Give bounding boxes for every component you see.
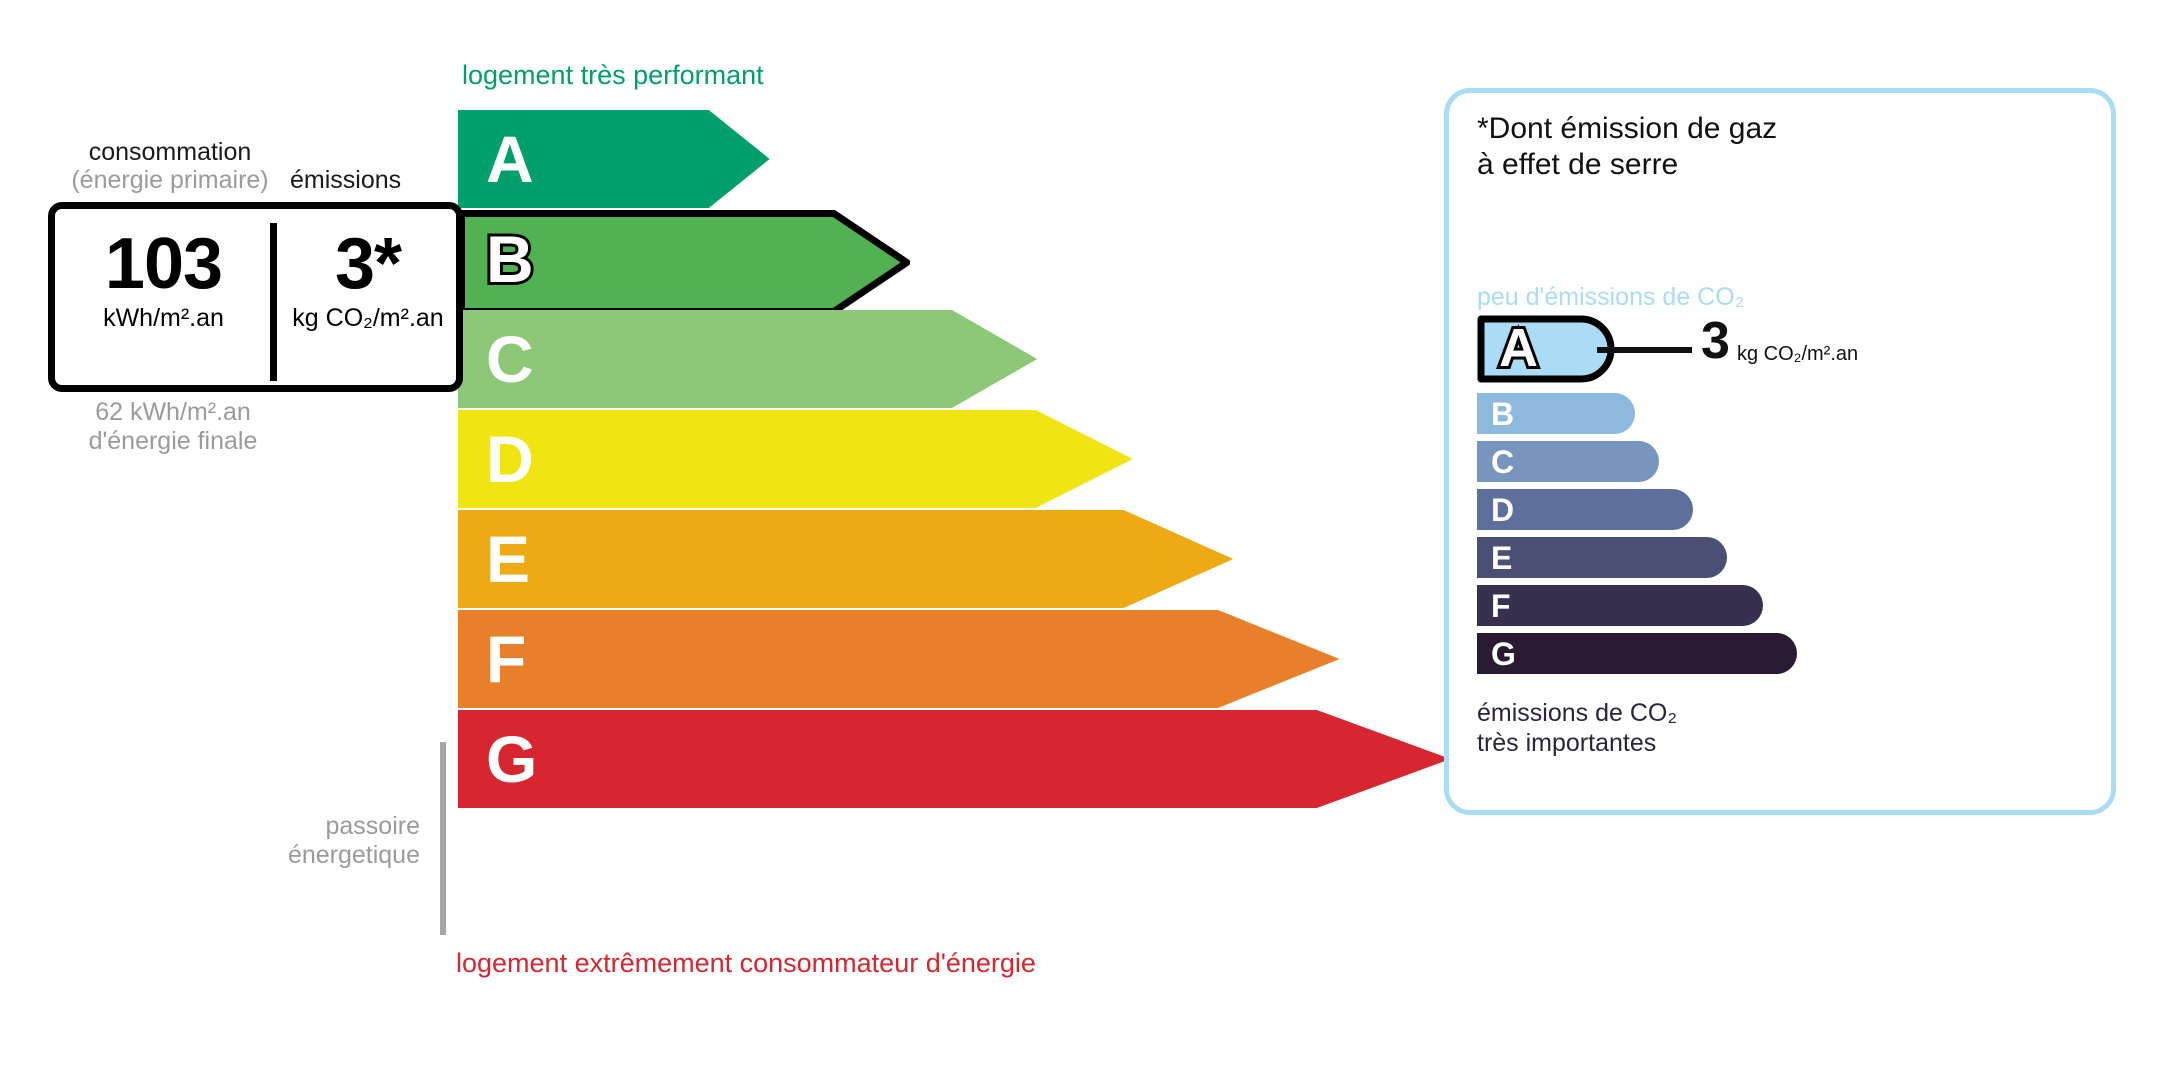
consumption-header-sub: (énergie primaire) — [55, 166, 285, 194]
grade-arrow-f: F — [458, 610, 1340, 708]
passoire-label-line2: énergetique — [250, 841, 420, 870]
co2-bar-letter-g: G — [1491, 638, 1516, 670]
grade-arrow-g: G — [458, 710, 1451, 808]
consumption-unit: kWh/m².an — [61, 304, 266, 333]
grade-arrow-d: D — [458, 410, 1133, 508]
co2-connector-line — [1597, 347, 1692, 353]
co2-selected-badge: A — [1477, 315, 1617, 388]
grade-arrow-shape-b — [458, 210, 910, 315]
co2-bar-letter-d: D — [1491, 494, 1514, 526]
grade-arrow-shape-d — [458, 410, 1133, 508]
co2-bar-letter-e: E — [1491, 542, 1512, 574]
grade-arrow-shape-c — [458, 310, 1037, 408]
caption-top: logement très performant — [462, 60, 764, 91]
grade-arrow-e: E — [458, 510, 1233, 608]
grade-arrow-a: A — [458, 110, 770, 208]
co2-bar-g: G — [1477, 633, 1797, 674]
value-box: 103 kWh/m².an 3* kg CO₂/m².an — [48, 202, 463, 392]
co2-panel-title: *Dont émission de gaz à effet de serre — [1477, 111, 1777, 183]
caption-bottom: logement extrêmement consommateur d'éner… — [456, 948, 1036, 979]
final-energy-note: 62 kWh/m².an d'énergie finale — [48, 398, 298, 456]
passoire-bracket — [440, 742, 446, 935]
emissions-unit: kg CO₂/m².an — [279, 304, 457, 333]
passoire-label: passoire énergetique — [250, 812, 420, 870]
emissions-value-cell: 3* kg CO₂/m².an — [279, 227, 457, 333]
value-box-divider — [270, 223, 277, 381]
co2-bar-e: E — [1477, 537, 1727, 578]
grade-arrow-shape-g — [458, 710, 1451, 808]
grade-arrow-shape-f — [458, 610, 1340, 708]
co2-bar-letter-b: B — [1491, 398, 1514, 430]
co2-scale-top-label: peu d'émissions de CO₂ — [1477, 283, 1744, 312]
co2-title-line1: *Dont émission de gaz — [1477, 111, 1777, 147]
grade-arrow-b: B — [458, 210, 903, 308]
grade-arrow-shape-a — [458, 110, 770, 208]
co2-bar-c: C — [1477, 441, 1659, 482]
consumption-header-main: consommation — [89, 138, 252, 166]
co2-bar-b: B — [1477, 393, 1635, 434]
consumption-value-cell: 103 kWh/m².an — [61, 227, 266, 333]
final-energy-value: 62 kWh/m².an — [48, 398, 298, 427]
grade-arrow-shape-e — [458, 510, 1233, 608]
emissions-header: émissions — [290, 166, 401, 195]
co2-bar-f: F — [1477, 585, 1763, 626]
co2-value: 3 — [1701, 315, 1730, 367]
consumption-value: 103 — [61, 227, 266, 302]
co2-title-line2: à effet de serre — [1477, 147, 1777, 183]
co2-selected-letter: A — [1499, 321, 1538, 375]
dpe-energy-label: consommation (énergie primaire) émission… — [0, 0, 1400, 1079]
co2-value-unit: kg CO₂/m².an — [1737, 343, 1858, 366]
final-energy-label: d'énergie finale — [48, 427, 298, 456]
co2-foot-line1: émissions de CO₂ — [1477, 699, 1677, 729]
co2-badge-shape — [1477, 315, 1617, 383]
co2-bar-letter-c: C — [1491, 446, 1514, 478]
consumption-header: consommation (énergie primaire) — [55, 138, 285, 194]
co2-bar-d: D — [1477, 489, 1693, 530]
passoire-label-line1: passoire — [250, 812, 420, 841]
co2-panel: *Dont émission de gaz à effet de serre p… — [1444, 88, 2116, 815]
co2-bar-letter-f: F — [1491, 590, 1511, 622]
co2-foot-line2: très importantes — [1477, 729, 1677, 759]
grade-arrow-c: C — [458, 310, 1037, 408]
emissions-value: 3* — [279, 227, 457, 302]
co2-foot-label: émissions de CO₂ très importantes — [1477, 699, 1677, 758]
